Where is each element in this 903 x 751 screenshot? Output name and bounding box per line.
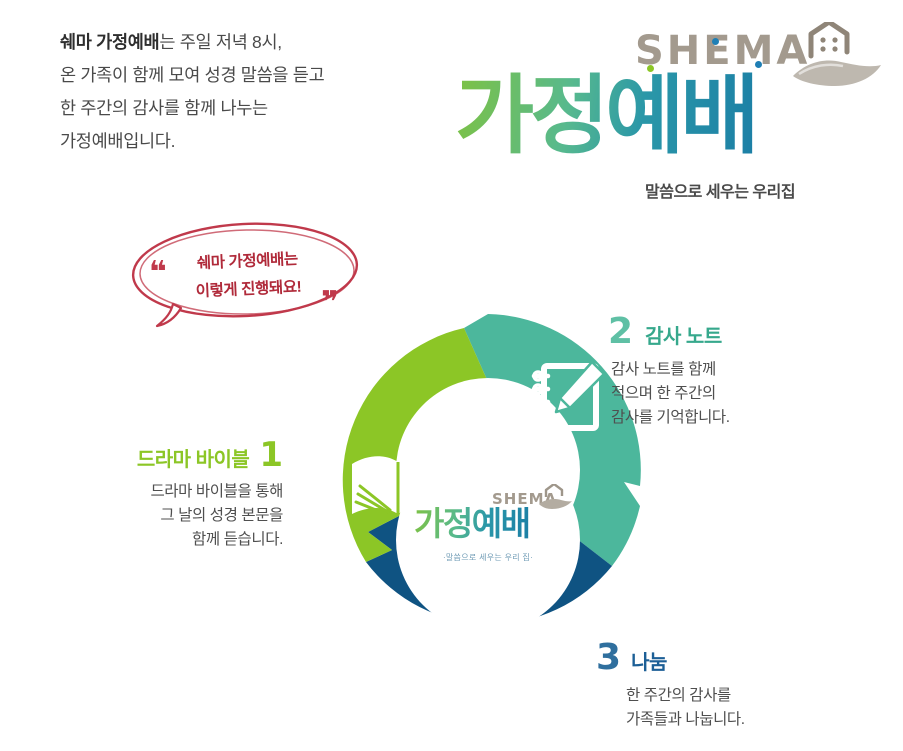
step-3-number: 3 xyxy=(596,640,621,676)
step-1-body: 드라마 바이블을 통해 그 날의 성경 본문을 함께 듣습니다. xyxy=(68,480,283,552)
logo-dot-blue-2-icon xyxy=(755,61,762,68)
center-brand-logo: SHEMA 가정예배 ·말씀으로 세우는 우리 집· xyxy=(396,448,580,632)
intro-line-1: 쉐마 가정예배는 주일 저녁 8시, xyxy=(60,26,460,59)
center-logo-title: 가정예배 xyxy=(414,504,529,544)
step-3-title: 나눔 xyxy=(631,646,667,675)
intro-line-4: 가정예배입니다. xyxy=(60,125,460,158)
house-hand-icon xyxy=(781,22,885,94)
intro-line-3: 한 주간의 감사를 함께 나누는 xyxy=(60,92,460,125)
center-house-hand-icon xyxy=(536,484,572,510)
brand-logo: SHEMA 가정예배 말씀으로 세우는 우리집 xyxy=(455,20,875,205)
step-gratitude-note: 2 감사 노트 감사 노트를 함께 적으며 한 주간의 감사를 기억합니다. xyxy=(608,314,838,430)
step-3-body: 한 주간의 감사를 가족들과 나눕니다. xyxy=(626,684,826,732)
step-drama-bible: 드라마 바이블 1 드라마 바이블을 통해 그 날의 성경 본문을 함께 듣습니… xyxy=(68,438,283,552)
logo-title-text: 가정예배 xyxy=(455,68,755,164)
logo-tagline: 말씀으로 세우는 우리집 xyxy=(645,178,795,202)
intro-paragraph: 쉐마 가정예배는 주일 저녁 8시, 온 가족이 함께 모여 성경 말씀을 듣고… xyxy=(60,26,460,158)
step-3-heading: 3 나눔 xyxy=(596,640,826,676)
step-2-body: 감사 노트를 함께 적으며 한 주간의 감사를 기억합니다. xyxy=(611,358,838,430)
center-logo-tagline: ·말씀으로 세우는 우리 집· xyxy=(396,552,580,563)
step-2-title: 감사 노트 xyxy=(645,320,722,349)
intro-line-2: 온 가족이 함께 모여 성경 말씀을 듣고 xyxy=(60,59,460,92)
logo-dot-blue-icon xyxy=(712,38,719,45)
step-1-title: 드라마 바이블 xyxy=(137,443,249,472)
step-2-number: 2 xyxy=(608,314,633,350)
step-1-heading: 드라마 바이블 1 xyxy=(68,438,283,472)
step-2-heading: 2 감사 노트 xyxy=(608,314,838,350)
step-sharing: 3 나눔 한 주간의 감사를 가족들과 나눕니다. xyxy=(596,640,826,732)
intro-lead: 쉐마 가정예배 xyxy=(60,32,159,52)
intro-line-1-rest: 는 주일 저녁 8시, xyxy=(159,32,281,52)
step-1-number: 1 xyxy=(259,438,283,472)
